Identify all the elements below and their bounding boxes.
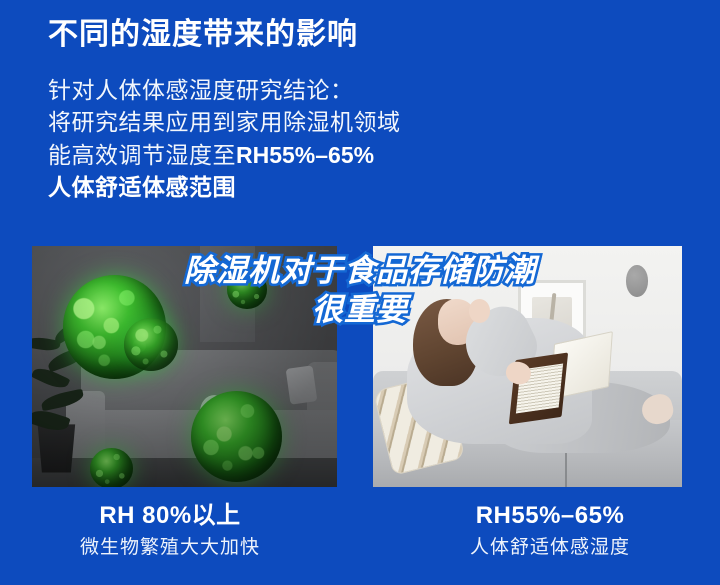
caption-right-main: RH55%–65% <box>380 500 720 531</box>
body-line-1: 针对人体体感湿度研究结论： <box>48 74 688 107</box>
dark-room-scene <box>32 246 337 487</box>
wall-speaker <box>626 265 648 296</box>
caption-row: RH 80%以上 微生物繁殖大大加快 RH55%–65% 人体舒适体感湿度 <box>0 500 720 585</box>
body-line-4: 人体舒适体感范围 <box>48 171 688 204</box>
caption-right-sub: 人体舒适体感湿度 <box>380 536 720 561</box>
body-line-2: 将研究结果应用到家用除湿机领域 <box>48 106 688 139</box>
body-line-3-prefix: 能高效调节湿度至 <box>48 142 236 168</box>
bright-room-scene <box>373 246 682 487</box>
dark-vignette <box>32 246 337 487</box>
caption-left-main: RH 80%以上 <box>0 500 340 531</box>
photo-right-comfort-room <box>373 246 682 487</box>
body-text-block: 针对人体体感湿度研究结论： 将研究结果应用到家用除湿机领域 能高效调节湿度至RH… <box>48 74 688 205</box>
caption-right: RH55%–65% 人体舒适体感湿度 <box>360 500 720 585</box>
header-block: 不同的湿度带来的影响 针对人体体感湿度研究结论： 将研究结果应用到家用除湿机领域… <box>48 16 688 204</box>
body-line-3-accent-value: RH55%–65% <box>236 142 374 168</box>
caption-left-sub: 微生物繁殖大大加快 <box>0 536 340 561</box>
poster-root: 不同的湿度带来的影响 针对人体体感湿度研究结论： 将研究结果应用到家用除湿机领域… <box>0 0 720 585</box>
body-line-3: 能高效调节湿度至RH55%–65% <box>48 139 688 172</box>
page-title: 不同的湿度带来的影响 <box>48 16 688 54</box>
photo-row <box>0 246 720 487</box>
caption-left: RH 80%以上 微生物繁殖大大加快 <box>0 500 360 585</box>
photo-left-humid-room <box>32 246 337 487</box>
